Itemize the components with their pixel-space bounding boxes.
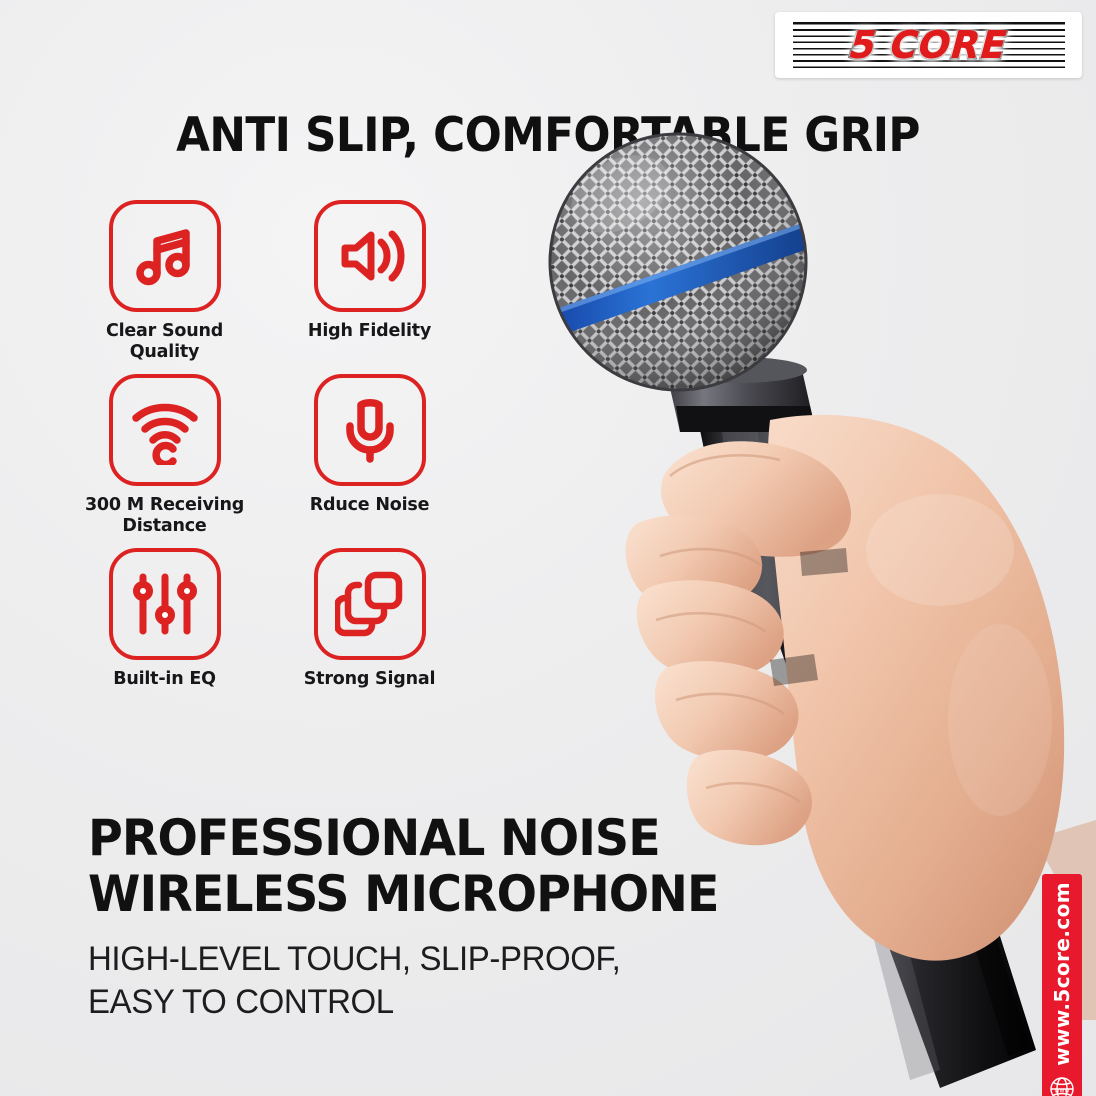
feature-reduce-noise[interactable]: Rduce Noise [267, 374, 472, 542]
feature-receiving-distance[interactable]: 300 M Receiving Distance [62, 374, 267, 542]
feature-label: 300 M Receiving Distance [85, 495, 244, 537]
logo-stripes: 5 CORE 5 CORE [793, 22, 1065, 68]
product-title: PROFESSIONAL NOISE WIRELESS MICROPHONE [88, 810, 829, 922]
feature-row: Built-in EQ Strong Signal [62, 548, 472, 698]
equalizer-sliders-icon [109, 548, 221, 660]
display-frequency-label: FREQUENCY [809, 618, 862, 633]
speaker-volume-icon [314, 200, 426, 312]
page-title: ANTI SLIP, COMFORTABLE GRIP [38, 108, 1057, 163]
music-note-icon [109, 200, 221, 312]
feature-label-line2: Distance [122, 516, 206, 536]
feature-label: Built-in EQ [113, 669, 216, 690]
logo-text-fill: 5 CORE [791, 23, 1066, 66]
product-subtitle-line2: EASY TO CONTROL [88, 981, 845, 1024]
feature-strong-signal[interactable]: Strong Signal [267, 548, 472, 698]
feature-label: Rduce Noise [310, 495, 430, 516]
feature-clear-sound-quality[interactable]: Clear Sound Quality [62, 200, 267, 368]
feature-label: Clear Sound Quality [106, 321, 223, 363]
mic-body-label: 5 CORE [721, 441, 831, 477]
www-globe-icon: www [1049, 1076, 1075, 1096]
feature-label-line1: Rduce Noise [310, 495, 430, 515]
five-core-logo: 5 CORE 5 CORE [775, 12, 1082, 78]
mic-grille [536, 126, 822, 402]
product-title-line2: WIRELESS MICROPHONE [88, 866, 829, 922]
website-url: www.5core.com [1050, 882, 1074, 1066]
layered-squares-icon [314, 548, 426, 660]
microphone-icon [314, 374, 426, 486]
product-banner: 5 CORE 5 CORE ANTI SLIP, COMFORTABLE GRI… [0, 0, 1096, 1096]
feature-built-in-eq[interactable]: Built-in EQ [62, 548, 267, 698]
feature-label-line1: High Fidelity [308, 321, 431, 341]
feature-row: 300 M Receiving Distance Rduce Noise [62, 374, 472, 542]
feature-label-line1: Built-in EQ [113, 669, 216, 689]
product-subtitle-line1: HIGH-LEVEL TOUCH, SLIP-PROOF, [88, 938, 845, 981]
display-channel: CH 1 [813, 602, 841, 617]
product-subtitle: HIGH-LEVEL TOUCH, SLIP-PROOF, EASY TO CO… [88, 938, 845, 1023]
svg-text:www: www [1055, 1087, 1070, 1094]
mic-mid-body [698, 420, 902, 636]
feature-label-line1: Strong Signal [304, 669, 436, 689]
display-unit: MHz [861, 659, 880, 672]
feature-label-line1: 300 M Receiving [85, 495, 244, 515]
feature-label-line2: Quality [130, 342, 200, 362]
feature-label-line1: Clear Sound [106, 321, 223, 341]
website-ribbon[interactable]: www.5core.com www [1042, 874, 1082, 1096]
product-title-line1: PROFESSIONAL NOISE [88, 810, 829, 866]
feature-grid: Clear Sound Quality High Fidelity [62, 200, 472, 704]
feature-high-fidelity[interactable]: High Fidelity [267, 200, 472, 368]
mic-display: CH 1 FREQUENCY 541.90 MHz [800, 582, 894, 680]
mic-neck [666, 357, 816, 432]
mic-blue-band [536, 216, 822, 344]
display-frequency-value: 541.90 [809, 627, 887, 658]
wifi-signal-icon [109, 374, 221, 486]
feature-label: High Fidelity [308, 321, 431, 342]
feature-row: Clear Sound Quality High Fidelity [62, 200, 472, 368]
bottom-copy: PROFESSIONAL NOISE WIRELESS MICROPHONE H… [88, 810, 868, 1023]
feature-label: Strong Signal [304, 669, 436, 690]
